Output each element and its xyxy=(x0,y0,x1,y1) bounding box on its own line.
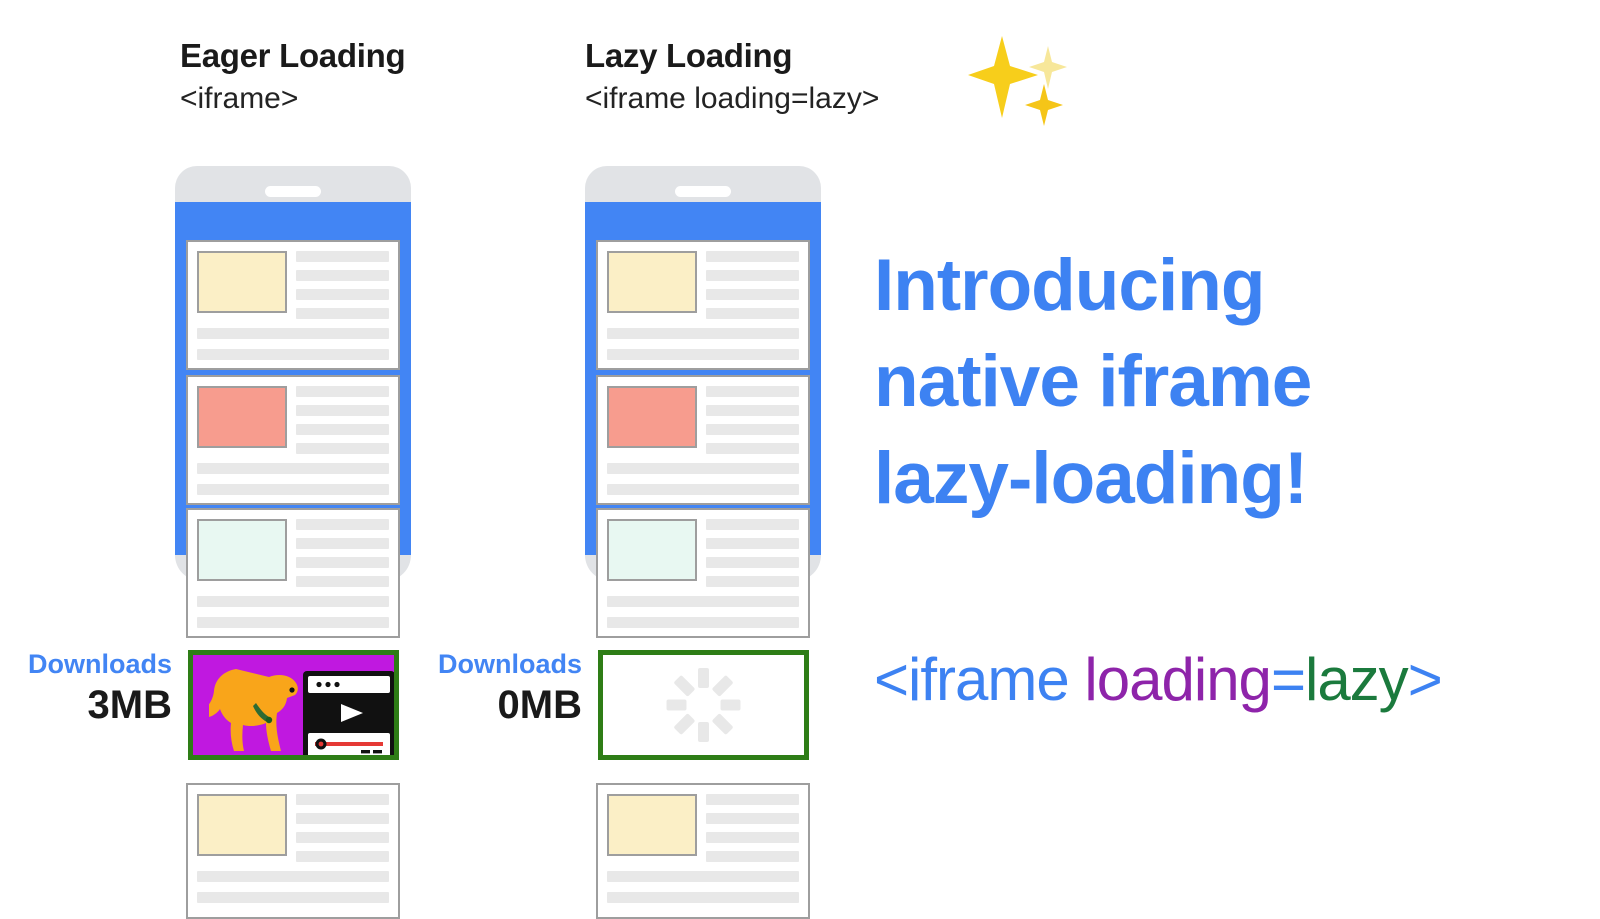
text-line xyxy=(706,519,799,530)
text-line xyxy=(706,270,799,281)
text-line xyxy=(706,251,799,262)
downloads-readout-eager: Downloads 3MB xyxy=(0,650,172,728)
feed-card xyxy=(596,783,810,919)
text-line xyxy=(607,617,799,628)
code-attribute: loading xyxy=(1084,646,1271,713)
feed-card xyxy=(596,240,810,370)
code-snippet: <iframe loading=lazy> xyxy=(874,645,1442,714)
downloads-label: Downloads xyxy=(410,650,582,680)
loading-spinner-icon xyxy=(603,655,804,755)
text-line xyxy=(296,576,389,587)
text-line xyxy=(706,794,799,805)
text-line xyxy=(197,463,389,474)
text-line xyxy=(706,443,799,454)
text-line xyxy=(296,443,389,454)
dog-illustration xyxy=(209,667,309,755)
text-line xyxy=(296,538,389,549)
downloads-label: Downloads xyxy=(0,650,172,680)
column-title-lazy: Lazy Loading xyxy=(585,38,879,74)
video-ad-thumbnail[interactable] xyxy=(193,655,394,755)
code-value: lazy xyxy=(1305,646,1408,713)
text-line xyxy=(296,813,389,824)
feed-card xyxy=(596,508,810,638)
phone-speaker-notch xyxy=(675,186,731,197)
text-line xyxy=(706,386,799,397)
text-line xyxy=(296,270,389,281)
column-title-eager: Eager Loading xyxy=(180,38,405,74)
text-line xyxy=(607,349,799,360)
text-line xyxy=(197,484,389,495)
headline-line-1: Introducing xyxy=(874,238,1534,334)
text-line xyxy=(197,328,389,339)
feed-card xyxy=(186,783,400,919)
card-thumbnail xyxy=(607,386,697,448)
text-line xyxy=(706,405,799,416)
text-line xyxy=(296,251,389,262)
text-line xyxy=(296,308,389,319)
card-thumbnail xyxy=(607,519,697,581)
text-line xyxy=(607,871,799,882)
text-line xyxy=(607,892,799,903)
phone-speaker-notch xyxy=(265,186,321,197)
code-equals: = xyxy=(1271,646,1305,713)
sparkles-icon xyxy=(962,28,1072,128)
text-line xyxy=(706,832,799,843)
column-heading-eager: Eager Loading <iframe> xyxy=(180,38,405,118)
text-line xyxy=(706,289,799,300)
text-line xyxy=(296,405,389,416)
card-thumbnail xyxy=(197,251,287,313)
code-close-bracket: > xyxy=(1408,646,1442,713)
iframe-slot-pending[interactable] xyxy=(598,650,809,760)
code-open-tag: <iframe xyxy=(874,646,1069,713)
card-thumbnail xyxy=(197,386,287,448)
card-thumbnail xyxy=(197,519,287,581)
text-line xyxy=(607,596,799,607)
text-line xyxy=(607,484,799,495)
text-line xyxy=(197,349,389,360)
downloads-readout-lazy: Downloads 0MB xyxy=(410,650,582,728)
text-line xyxy=(706,538,799,549)
text-line xyxy=(706,308,799,319)
text-line xyxy=(296,851,389,862)
text-line xyxy=(197,892,389,903)
text-line xyxy=(706,851,799,862)
text-line xyxy=(607,463,799,474)
feed-card xyxy=(186,240,400,370)
card-thumbnail xyxy=(197,794,287,856)
text-line xyxy=(296,832,389,843)
slide-canvas: Eager Loading <iframe> Lazy Loading <ifr… xyxy=(0,0,1600,919)
text-line xyxy=(706,813,799,824)
headline-line-3: lazy-loading! xyxy=(874,431,1534,527)
card-thumbnail xyxy=(607,251,697,313)
text-line xyxy=(296,557,389,568)
text-line xyxy=(607,328,799,339)
downloads-value: 0MB xyxy=(410,682,582,728)
text-line xyxy=(296,289,389,300)
column-subtitle-lazy: <iframe loading=lazy> xyxy=(585,80,879,118)
headline-line-2: native iframe xyxy=(874,334,1534,430)
headline: Introducing native iframe lazy-loading! xyxy=(874,238,1534,527)
card-thumbnail xyxy=(607,794,697,856)
column-subtitle-eager: <iframe> xyxy=(180,80,405,118)
text-line xyxy=(296,794,389,805)
feed-card xyxy=(186,375,400,505)
feed-card xyxy=(596,375,810,505)
text-line xyxy=(706,576,799,587)
downloads-value: 3MB xyxy=(0,682,172,728)
text-line xyxy=(296,386,389,397)
column-heading-lazy: Lazy Loading <iframe loading=lazy> xyxy=(585,38,879,118)
video-player-icon xyxy=(301,669,394,755)
text-line xyxy=(706,424,799,435)
text-line xyxy=(197,871,389,882)
text-line xyxy=(706,557,799,568)
iframe-slot-loaded[interactable] xyxy=(188,650,399,760)
text-line xyxy=(197,617,389,628)
text-line xyxy=(296,424,389,435)
feed-card xyxy=(186,508,400,638)
text-line xyxy=(296,519,389,530)
text-line xyxy=(197,596,389,607)
